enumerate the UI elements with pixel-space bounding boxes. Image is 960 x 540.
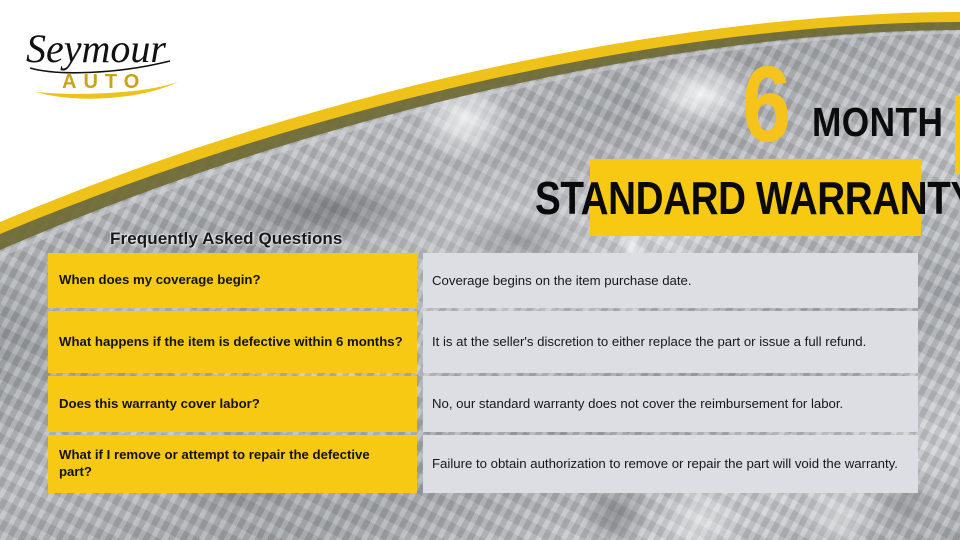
faq-question-text: When does my coverage begin? (59, 272, 261, 289)
warranty-slide: Seymour AUTO Seymour A U T O 6 MONTH STA… (0, 0, 960, 540)
faq-question-cell: What happens if the item is defective wi… (48, 311, 417, 373)
warranty-duration: 6 MONTH (742, 56, 927, 156)
svg-text:AUTO: AUTO (62, 71, 146, 93)
faq-answer-text: Failure to obtain authorization to remov… (432, 455, 909, 473)
duration-unit: MONTH (812, 100, 943, 144)
duration-number: 6 (742, 56, 790, 152)
faq-answer-text: No, our standard warranty does not cover… (432, 395, 909, 413)
table-row: Does this warranty cover labor? No, our … (48, 376, 918, 432)
faq-answer-cell: Failure to obtain authorization to remov… (423, 435, 918, 493)
faq-question-text: What if I remove or attempt to repair th… (59, 447, 406, 481)
banner-title: STANDARD WARRANTY (535, 174, 960, 222)
seymour-auto-logo: Seymour AUTO Seymour A U T O (18, 18, 208, 110)
faq-answer-text: Coverage begins on the item purchase dat… (432, 272, 909, 290)
faq-question-cell: When does my coverage begin? (48, 253, 417, 308)
faq-question-text: What happens if the item is defective wi… (59, 334, 403, 351)
faq-question-cell: What if I remove or attempt to repair th… (48, 435, 417, 493)
faq-answer-cell: Coverage begins on the item purchase dat… (423, 253, 918, 308)
table-row: When does my coverage begin? Coverage be… (48, 253, 918, 308)
faq-heading: Frequently Asked Questions (110, 229, 342, 249)
svg-text:Seymour: Seymour (26, 26, 166, 71)
faq-table: When does my coverage begin? Coverage be… (48, 253, 918, 496)
standard-warranty-banner: STANDARD WARRANTY (590, 159, 921, 236)
table-row: What if I remove or attempt to repair th… (48, 435, 918, 493)
right-edge-accent-bar (955, 96, 960, 174)
faq-answer-text: It is at the seller's discretion to eith… (432, 333, 909, 351)
faq-question-cell: Does this warranty cover labor? (48, 376, 417, 432)
faq-answer-cell: No, our standard warranty does not cover… (423, 376, 918, 432)
table-row: What happens if the item is defective wi… (48, 311, 918, 373)
faq-answer-cell: It is at the seller's discretion to eith… (423, 311, 918, 373)
faq-question-text: Does this warranty cover labor? (59, 396, 260, 413)
